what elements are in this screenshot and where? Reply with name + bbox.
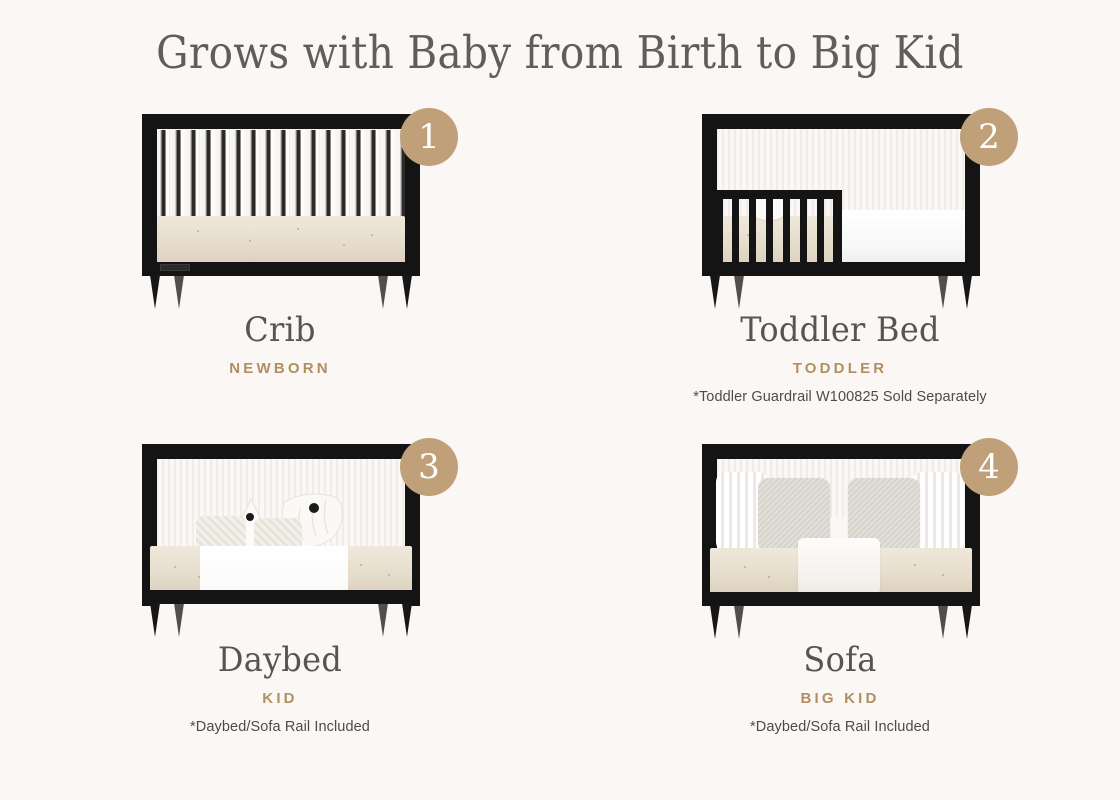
step-badge-3: 3 xyxy=(400,438,458,496)
stage-panel-crib: 1 Crib NEWBORN xyxy=(0,96,560,448)
caption-toddler-bed: Toddler Bed TODDLER *Toddler Guardrail W… xyxy=(560,310,1120,405)
sofa-illustration xyxy=(690,434,990,630)
stage-label: BIG KID xyxy=(560,690,1120,707)
stage-panel-toddler-bed: 2 Toddler Bed TODDLER *Toddler Guardrail… xyxy=(560,96,1120,448)
caption-crib: Crib NEWBORN xyxy=(0,310,560,377)
stage-note: *Daybed/Sofa Rail Included xyxy=(560,719,1120,735)
step-badge-1: 1 xyxy=(400,108,458,166)
stage-label: NEWBORN xyxy=(0,360,560,377)
stage-grid: 1 Crib NEWBORN xyxy=(0,96,1120,800)
stage-note: *Toddler Guardrail W100825 Sold Separate… xyxy=(560,389,1120,405)
product-image-crib: 1 xyxy=(0,96,560,306)
stage-panel-sofa: 4 Sofa BIG KID *Daybed/Sofa Rail Include… xyxy=(560,426,1120,778)
product-image-toddler-bed: 2 xyxy=(560,96,1120,306)
infographic-page: Grows with Baby from Birth to Big Kid xyxy=(0,0,1120,800)
product-image-daybed: 3 xyxy=(0,426,560,636)
product-image-sofa: 4 xyxy=(560,426,1120,636)
crib-illustration xyxy=(130,104,430,300)
step-badge-2: 2 xyxy=(960,108,1018,166)
product-title: Crib xyxy=(17,310,543,350)
daybed-illustration xyxy=(130,434,430,630)
product-title: Daybed xyxy=(17,640,543,680)
product-title: Sofa xyxy=(577,640,1103,680)
page-title: Grows with Baby from Birth to Big Kid xyxy=(56,26,1064,79)
toddler-bed-illustration xyxy=(690,104,990,300)
caption-sofa: Sofa BIG KID *Daybed/Sofa Rail Included xyxy=(560,640,1120,735)
step-badge-4: 4 xyxy=(960,438,1018,496)
stage-label: TODDLER xyxy=(560,360,1120,377)
stage-label: KID xyxy=(0,690,560,707)
stage-panel-daybed: 3 Daybed KID *Daybed/Sofa Rail Included xyxy=(0,426,560,778)
throw-blanket xyxy=(798,538,880,600)
caption-daybed: Daybed KID *Daybed/Sofa Rail Included xyxy=(0,640,560,735)
product-title: Toddler Bed xyxy=(577,310,1103,350)
stage-note: *Daybed/Sofa Rail Included xyxy=(0,719,560,735)
